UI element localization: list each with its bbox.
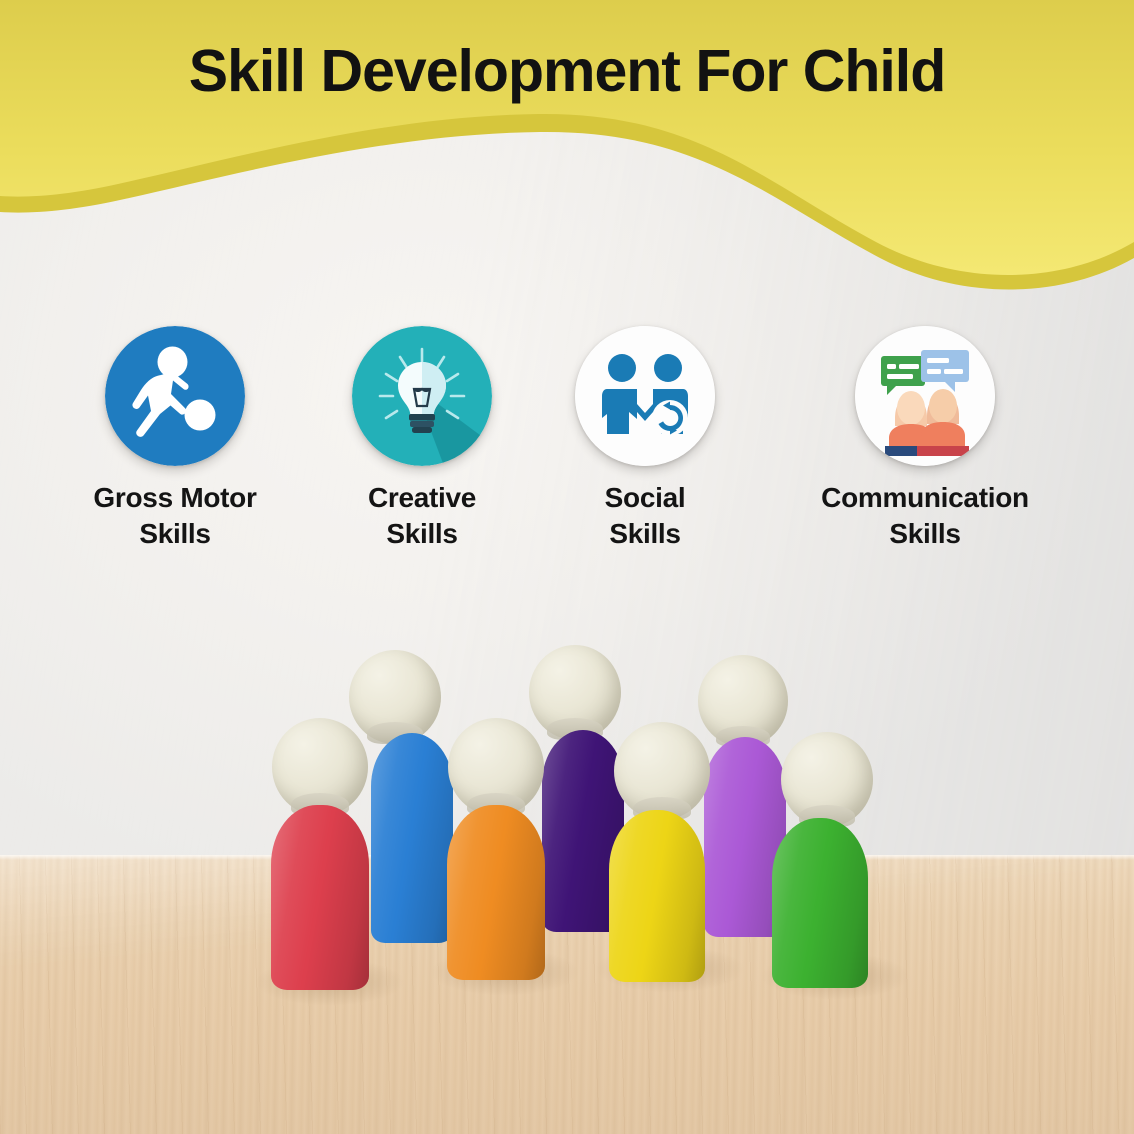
poster-canvas: Skill Development For Child Gross Motor … (0, 0, 1134, 1134)
peg-doll-group (0, 0, 1134, 1134)
peg-doll-body (609, 810, 705, 982)
peg-doll-body (772, 818, 868, 988)
peg-doll-body (447, 805, 545, 980)
peg-doll-body (371, 733, 453, 943)
peg-doll-body (271, 805, 369, 990)
